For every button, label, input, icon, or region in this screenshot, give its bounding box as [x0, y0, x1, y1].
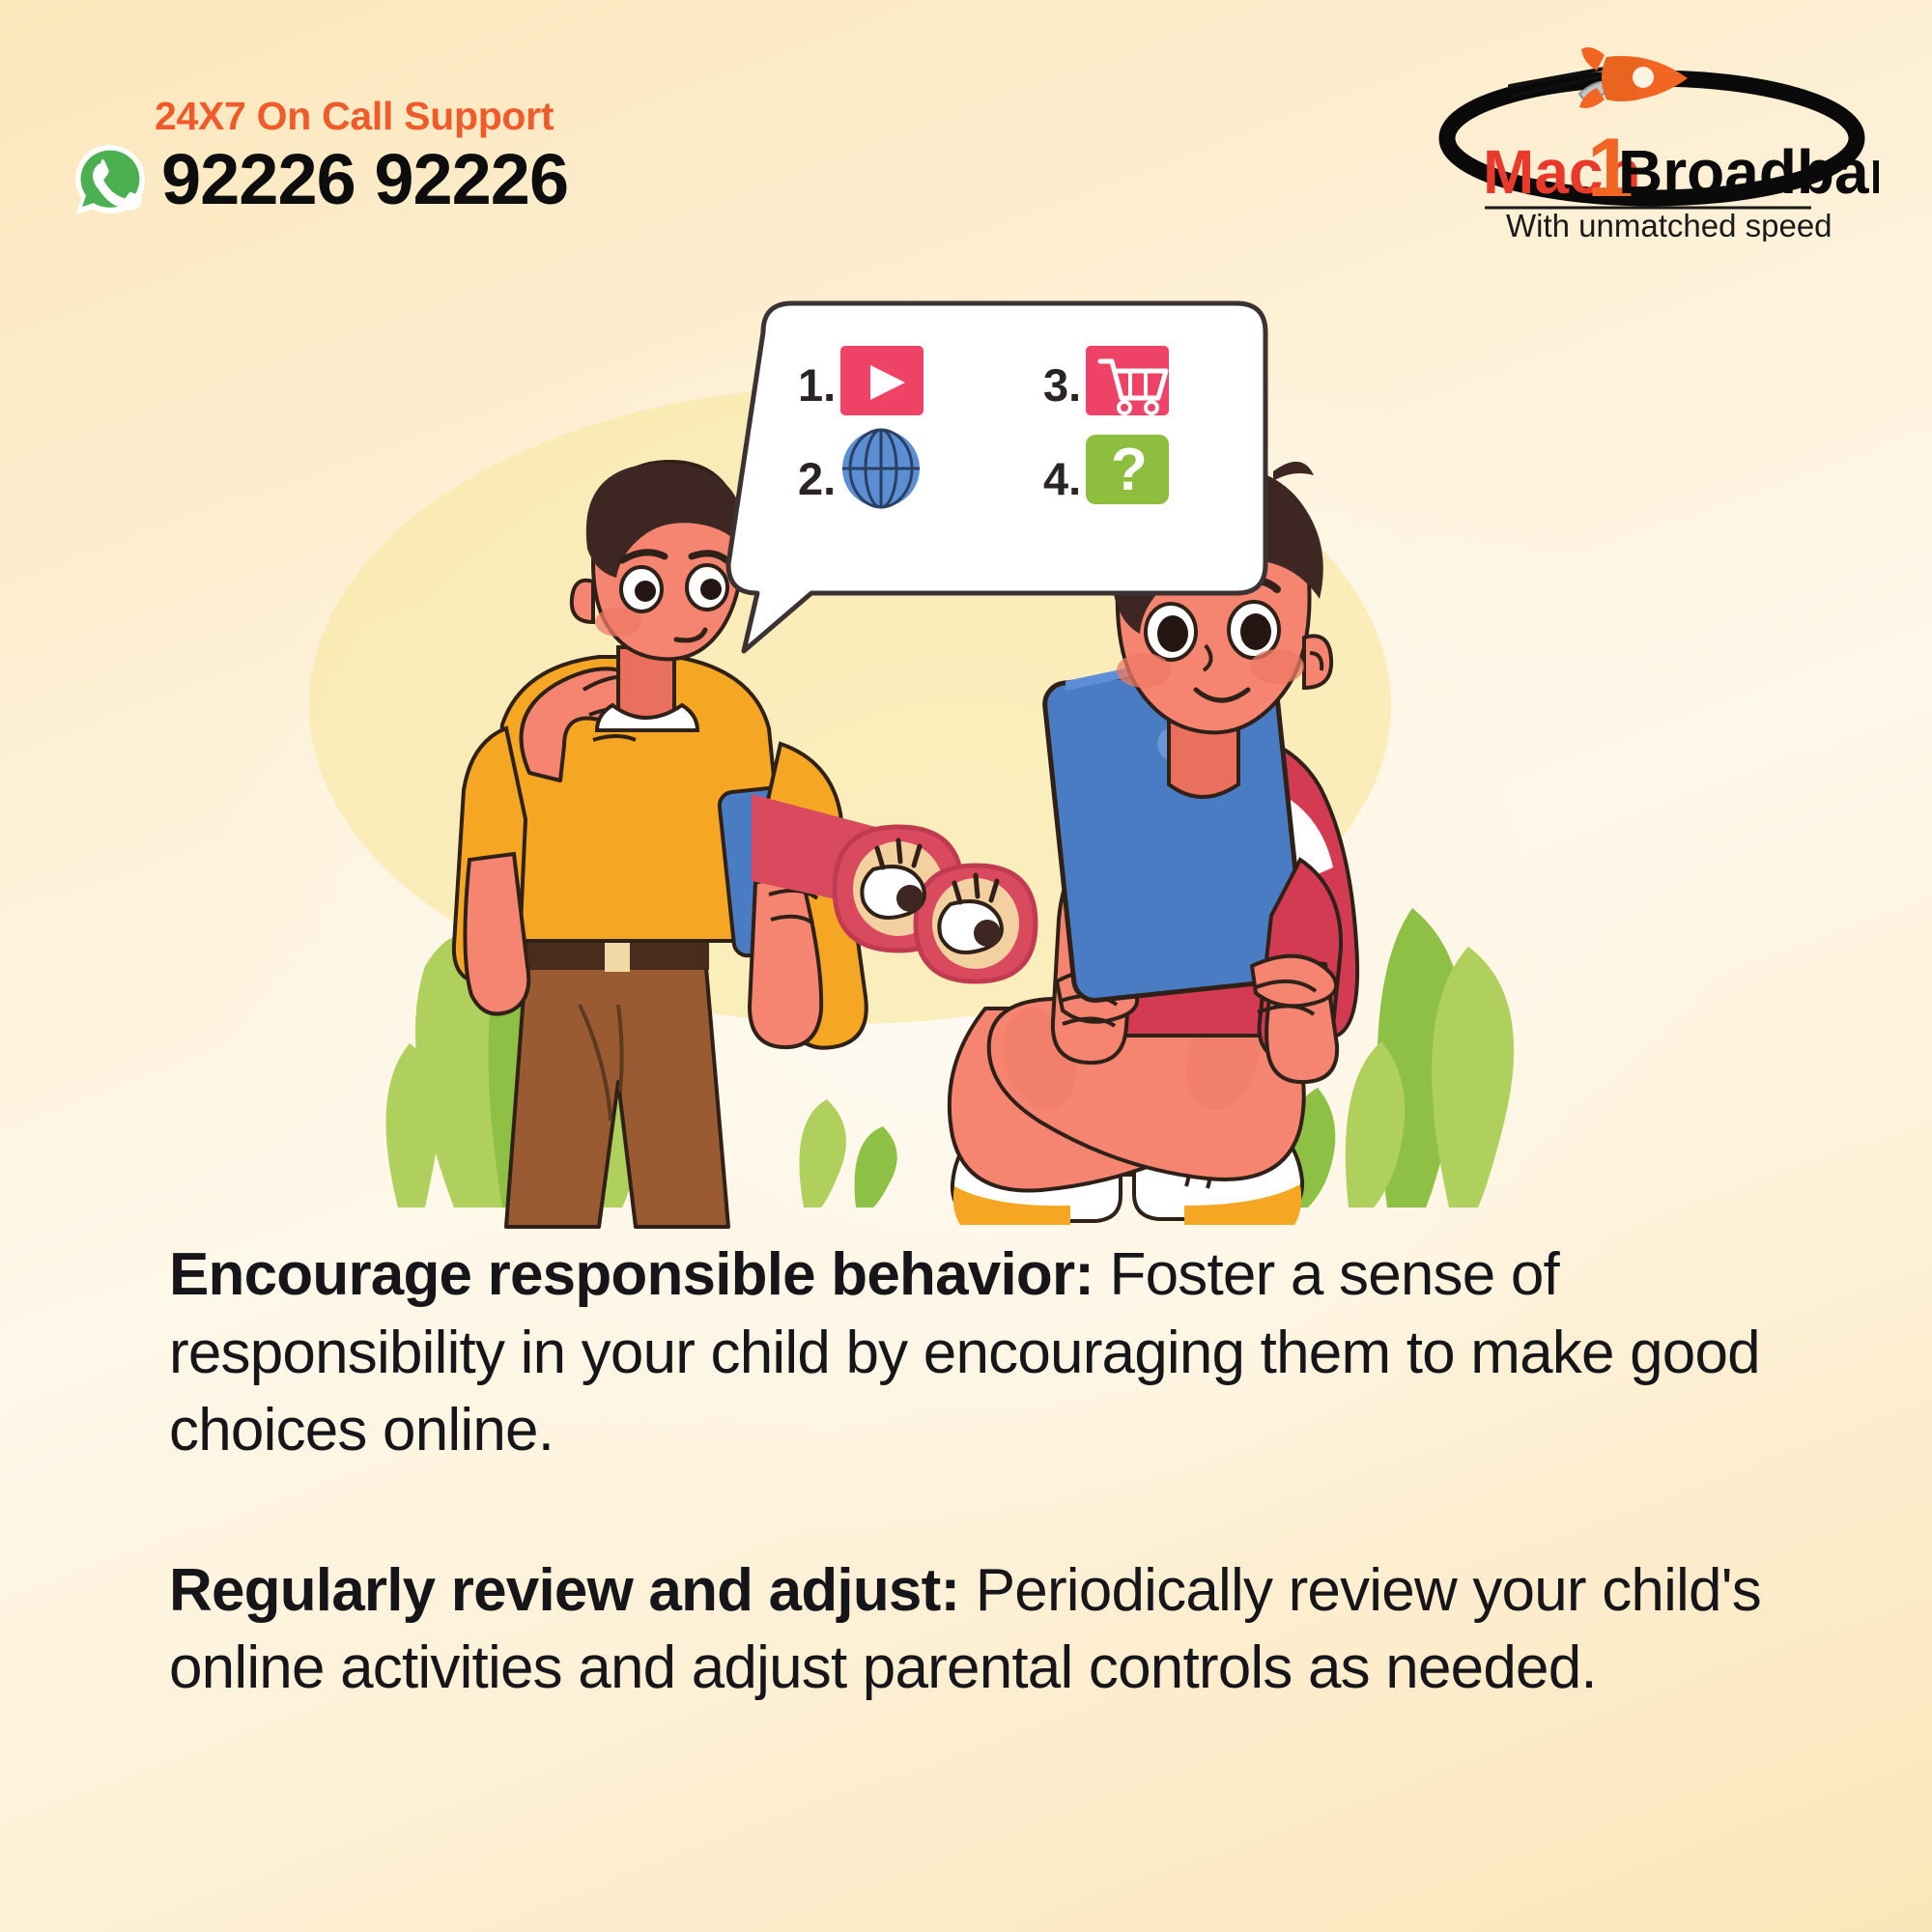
- body-copy: Encourage responsible behavior: Foster a…: [169, 1236, 1802, 1708]
- paragraph-2-lead: Regularly review and adjust:: [169, 1557, 959, 1624]
- poster-canvas: 24X7 On Call Support 92226 92226: [0, 0, 1932, 1932]
- phone-number[interactable]: 92226 92226: [161, 144, 568, 215]
- header: 24X7 On Call Support 92226 92226: [0, 0, 1932, 290]
- brand-logo-svg: Mach 1 Broadband With unmatched speed: [1425, 34, 1879, 241]
- paragraph-1: Encourage responsible behavior: Foster a…: [169, 1236, 1802, 1470]
- bubble-item-1-number: 1.: [798, 359, 836, 411]
- globe-internet-icon[interactable]: [842, 430, 920, 507]
- logo-text-broadband: Broadband: [1618, 137, 1879, 207]
- brand-logo[interactable]: Mach 1 Broadband With unmatched speed: [1425, 34, 1879, 241]
- bubble-item-3-number: 3.: [1043, 359, 1081, 411]
- svg-text:?: ?: [1111, 437, 1148, 503]
- bubble-item-2-number: 2.: [798, 453, 836, 504]
- whatsapp-icon[interactable]: [72, 142, 148, 217]
- illustration-svg: 1. 3. 2. 4: [0, 290, 1932, 1256]
- phone-row: 92226 92226: [72, 142, 749, 217]
- bubble-item-4-number: 4.: [1043, 453, 1081, 504]
- rocket-icon: [1510, 47, 1688, 108]
- logo-tagline: With unmatched speed: [1506, 208, 1833, 241]
- paragraph-1-lead: Encourage responsible behavior:: [169, 1241, 1094, 1308]
- support-label: 24X7 On Call Support: [155, 97, 749, 136]
- paragraph-2: Regularly review and adjust: Periodicall…: [169, 1552, 1802, 1708]
- support-contact-block: 24X7 On Call Support 92226 92226: [72, 97, 749, 217]
- illustration: 1. 3. 2. 4: [0, 290, 1932, 1256]
